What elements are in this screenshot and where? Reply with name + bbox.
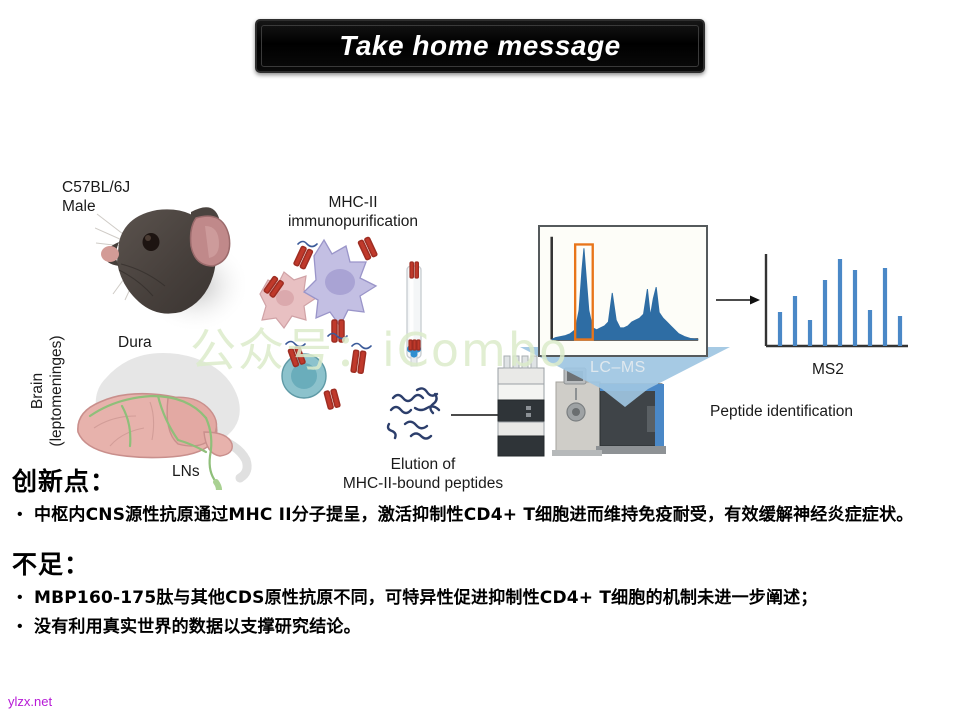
summary-text-block: 创新点： • 中枢内CNS源性抗原通过MHC II分子提呈，激活抑制性CD4+ … [0, 462, 960, 643]
section-spacer [0, 531, 960, 545]
label-ms2: MS2 [812, 360, 844, 379]
bullet-marker: • [14, 614, 34, 640]
section-heading: 创新点： [12, 462, 960, 498]
title-banner: Take home message [255, 19, 705, 73]
bullet-marker: • [14, 502, 34, 528]
bullet-text: 没有利用真实世界的数据以支撑研究结论。 [34, 614, 361, 641]
workflow-figure: C57BL/6J Male Dura Brain (leptomeninges)… [0, 82, 960, 442]
label-brain: Brain (leptomeninges) [28, 331, 66, 451]
label-dura: Dura [118, 333, 152, 352]
affinity-column-illustration [396, 258, 432, 368]
label-lcms: LC–MS [590, 358, 646, 377]
arrow-to-ms2 [716, 294, 760, 306]
bullet-marker: • [14, 585, 34, 611]
list-item: • 没有利用真实世界的数据以支撑研究结论。 [14, 614, 960, 641]
site-watermark: ylzx.net [8, 694, 52, 709]
list-item: • 中枢内CNS源性抗原通过MHC II分子提呈，激活抑制性CD4+ T细胞进而… [14, 502, 960, 529]
ms2-peaks [780, 259, 900, 346]
section-heading: 不足： [12, 545, 960, 581]
lcms-chromatogram-chart [538, 225, 708, 357]
bullet-text: MBP160-175肽与其他CDS原性抗原不同，可特异性促进抑制性CD4+ T细… [34, 585, 818, 612]
banner-title: Take home message [339, 30, 620, 62]
label-mouse-strain: C57BL/6J Male [62, 178, 130, 216]
list-item: • MBP160-175肽与其他CDS原性抗原不同，可特异性促进抑制性CD4+ … [14, 585, 960, 612]
bullet-text: 中枢内CNS源性抗原通过MHC II分子提呈，激活抑制性CD4+ T细胞进而维持… [34, 502, 914, 529]
section-innovation: 创新点： • 中枢内CNS源性抗原通过MHC II分子提呈，激活抑制性CD4+ … [0, 462, 960, 529]
cell-pink [260, 272, 316, 328]
ms2-spectrum-chart [756, 250, 916, 358]
label-mhc-immunopurification: MHC-II immunopurification [273, 193, 433, 231]
label-peptide-identification: Peptide identification [710, 402, 853, 421]
section-limitations: 不足： • MBP160-175肽与其他CDS原性抗原不同，可特异性促进抑制性C… [0, 545, 960, 641]
